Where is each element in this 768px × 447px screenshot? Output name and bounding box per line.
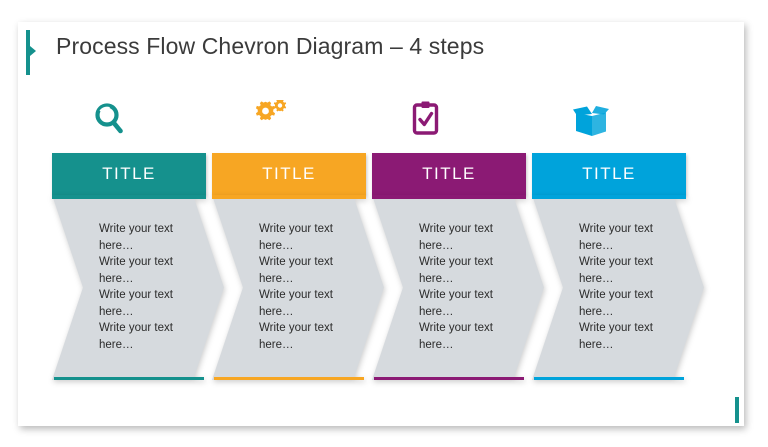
gears-icon xyxy=(212,95,384,145)
step-3-header[interactable]: TITLE xyxy=(372,153,526,195)
step-4-line-3: Write your text here… xyxy=(579,287,679,320)
slide-canvas: Process Flow Chevron Diagram – 4 steps T… xyxy=(0,0,768,447)
step-1-line-3: Write your text here… xyxy=(99,287,199,320)
step-2-rule-top xyxy=(212,195,366,199)
step-4-rule-bottom xyxy=(534,377,684,380)
step-4-text: Write your text here… Write your text he… xyxy=(579,221,679,353)
step-1-text: Write your text here… Write your text he… xyxy=(99,221,199,353)
step-3-line-2: Write your text here… xyxy=(419,254,519,287)
step-2-header[interactable]: TITLE xyxy=(212,153,366,195)
step-4-title: TITLE xyxy=(582,164,636,184)
step-2-line-4: Write your text here… xyxy=(259,320,359,353)
step-4-line-2: Write your text here… xyxy=(579,254,679,287)
step-1-title: TITLE xyxy=(102,164,156,184)
step-2-line-2: Write your text here… xyxy=(259,254,359,287)
process-step-4[interactable]: TITLE Write your text here… Write your t… xyxy=(532,95,704,380)
step-2-line-1: Write your text here… xyxy=(259,221,359,254)
step-2-body: Write your text here… Write your text he… xyxy=(212,195,384,380)
step-1-header[interactable]: TITLE xyxy=(52,153,206,195)
step-1-rule-top xyxy=(52,195,206,199)
magnifier-icon xyxy=(52,95,224,145)
step-3-line-1: Write your text here… xyxy=(419,221,519,254)
step-3-body: Write your text here… Write your text he… xyxy=(372,195,544,380)
step-3-line-4: Write your text here… xyxy=(419,320,519,353)
step-1-body: Write your text here… Write your text he… xyxy=(52,195,224,380)
process-flow-chevron-diagram: TITLE Write your text here… Write your t… xyxy=(0,0,768,447)
step-4-body: Write your text here… Write your text he… xyxy=(532,195,704,380)
step-1-rule-bottom xyxy=(54,377,204,380)
clipboard-check-icon xyxy=(372,95,544,145)
process-step-3[interactable]: TITLE Write your text here… Write your t… xyxy=(372,95,544,380)
step-3-rule-top xyxy=(372,195,526,199)
open-box-icon xyxy=(532,95,704,145)
step-3-text: Write your text here… Write your text he… xyxy=(419,221,519,353)
step-1-line-4: Write your text here… xyxy=(99,320,199,353)
step-1-line-2: Write your text here… xyxy=(99,254,199,287)
step-2-line-3: Write your text here… xyxy=(259,287,359,320)
step-4-header[interactable]: TITLE xyxy=(532,153,686,195)
step-4-line-4: Write your text here… xyxy=(579,320,679,353)
step-4-rule-top xyxy=(532,195,686,199)
step-2-title: TITLE xyxy=(262,164,316,184)
step-3-rule-bottom xyxy=(374,377,524,380)
step-2-rule-bottom xyxy=(214,377,364,380)
step-1-line-1: Write your text here… xyxy=(99,221,199,254)
step-2-text: Write your text here… Write your text he… xyxy=(259,221,359,353)
process-step-1[interactable]: TITLE Write your text here… Write your t… xyxy=(52,95,224,380)
process-step-2[interactable]: TITLE Write your text here… Write your t… xyxy=(212,95,384,380)
step-3-title: TITLE xyxy=(422,164,476,184)
step-3-line-3: Write your text here… xyxy=(419,287,519,320)
step-4-line-1: Write your text here… xyxy=(579,221,679,254)
